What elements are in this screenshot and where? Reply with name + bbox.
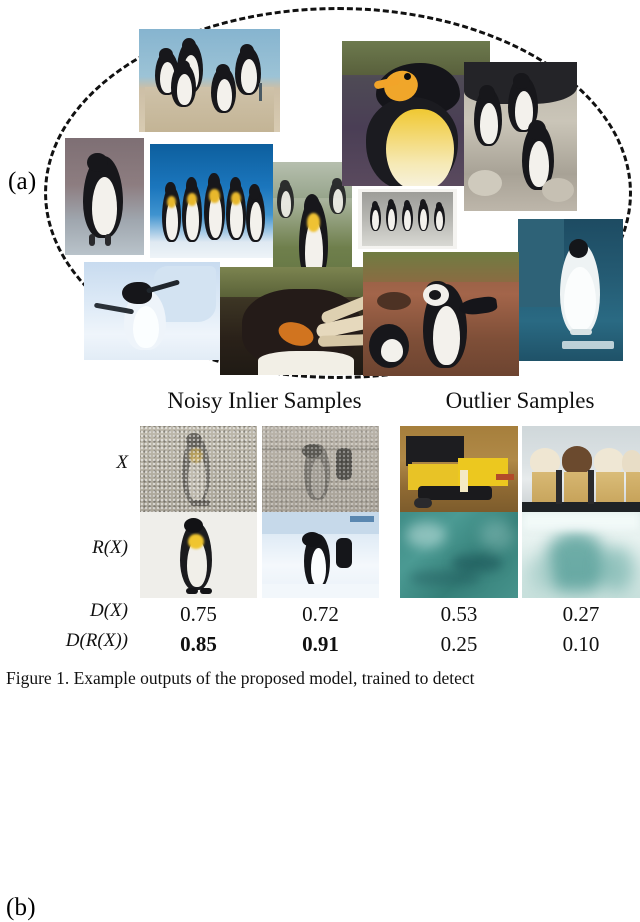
collage-image-chinstrap-penguin-blue (518, 219, 623, 361)
row-label-score-input: D(X) (14, 600, 128, 622)
collage-image-emperor-penguins-bw (358, 189, 457, 249)
cell-input-noisy-emperor-penguin (140, 426, 257, 512)
collage-image-rockhopper-penguin (220, 267, 381, 375)
cell-reconstruction-adelie-penguin (262, 512, 379, 598)
panel-a: (a) (0, 0, 640, 382)
cell-input-ice-cream-cones (522, 426, 640, 512)
score-reconstruction-col2: 0.91 (262, 632, 379, 657)
figure-caption: Figure 1. Example outputs of the propose… (6, 668, 640, 689)
column-header-noisy-inlier: Noisy Inlier Samples (142, 388, 387, 414)
collage-image-king-penguins-blue (150, 144, 273, 258)
cell-reconstruction-teal-blur-ice-cream (522, 512, 640, 598)
penguin-collage (0, 0, 640, 382)
score-input-col1: 0.75 (140, 602, 257, 627)
row-label-input: X (36, 452, 128, 474)
row-label-reconstruction: R(X) (26, 537, 128, 559)
score-input-col3: 0.53 (400, 602, 518, 627)
figure-root: (a) (0, 0, 640, 692)
score-reconstruction-col1: 0.85 (140, 632, 257, 657)
collage-image-african-penguins-stones (464, 62, 577, 211)
collage-image-magellanic-penguins-soil (363, 252, 519, 376)
cell-reconstruction-emperor-penguin (140, 512, 257, 598)
score-input-col4: 0.27 (522, 602, 640, 627)
collage-image-african-penguin-rock (65, 138, 144, 255)
score-input-col2: 0.72 (262, 602, 379, 627)
collage-image-african-penguins-beach (139, 29, 280, 132)
collage-image-adelie-penguin-snow (84, 262, 220, 360)
cell-input-noisy-adelie-penguin (262, 426, 379, 512)
panel-b: (b) Noisy Inlier Samples Outlier Samples… (0, 382, 640, 692)
row-label-score-reconstruction: D(R(X)) (6, 630, 128, 652)
panel-b-label: (b) (6, 894, 36, 922)
score-reconstruction-col4: 0.10 (522, 632, 640, 657)
cell-reconstruction-teal-blur-bulldozer (400, 512, 518, 598)
column-header-outlier: Outlier Samples (400, 388, 640, 414)
score-reconstruction-col3: 0.25 (400, 632, 518, 657)
cell-input-yellow-bulldozer (400, 426, 518, 512)
